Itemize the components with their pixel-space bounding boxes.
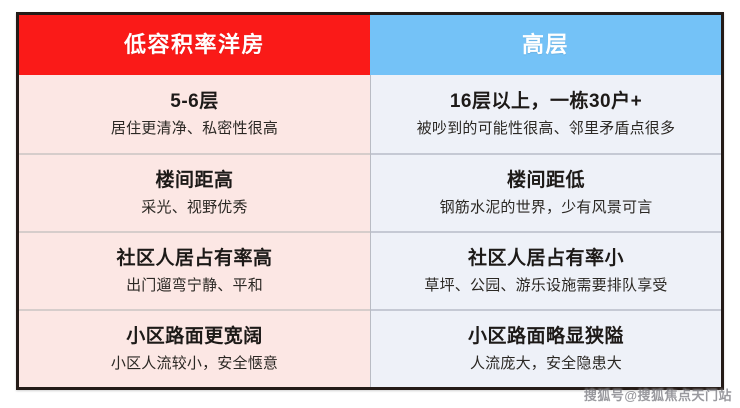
cell-subtitle: 出门遛弯宁静、平和 [126,276,263,296]
cell-subtitle: 居住更清净、私密性很高 [111,119,278,139]
table-cell: 5-6层 居住更清净、私密性很高 [19,75,370,153]
table-cell: 社区人居占有率高 出门遛弯宁静、平和 [19,231,370,309]
column-low-density-villa: 5-6层 居住更清净、私密性很高 楼间距高 采光、视野优秀 社区人居占有率高 出… [19,75,370,387]
cell-subtitle: 被吵到的可能性很高、邻里矛盾点很多 [417,119,675,139]
comparison-table: 低容积率洋房 高层 5-6层 居住更清净、私密性很高 楼间距高 采光、视野优秀 … [16,12,724,390]
table-cell: 楼间距低 钢筋水泥的世界，少有风景可言 [371,153,721,231]
cell-subtitle: 采光、视野优秀 [141,198,247,218]
cell-title: 小区路面更宽阔 [126,325,263,349]
cell-subtitle: 小区人流较小，安全惬意 [111,354,278,374]
header-title-right: 高层 [522,34,569,56]
table-cell: 小区路面更宽阔 小区人流较小，安全惬意 [19,309,370,387]
table-cell: 社区人居占有率小 草坪、公园、游乐设施需要排队享受 [371,231,721,309]
table-header-row: 低容积率洋房 高层 [19,15,721,75]
cell-title: 5-6层 [170,90,218,114]
cell-title: 小区路面略显狭隘 [468,325,624,349]
cell-title: 社区人居占有率高 [116,247,272,271]
table-cell: 楼间距高 采光、视野优秀 [19,153,370,231]
cell-subtitle: 钢筋水泥的世界，少有风景可言 [440,198,653,218]
table-body: 5-6层 居住更清净、私密性很高 楼间距高 采光、视野优秀 社区人居占有率高 出… [19,75,721,387]
header-cell-high-rise: 高层 [370,15,721,75]
cell-title: 社区人居占有率小 [468,247,624,271]
cell-title: 16层以上，一栋30户+ [450,90,642,114]
cell-subtitle: 人流庞大，安全隐患大 [470,354,622,374]
table-cell: 16层以上，一栋30户+ 被吵到的可能性很高、邻里矛盾点很多 [371,75,721,153]
header-cell-low-density-villa: 低容积率洋房 [19,15,370,75]
header-title-left: 低容积率洋房 [124,34,265,56]
column-high-rise: 16层以上，一栋30户+ 被吵到的可能性很高、邻里矛盾点很多 楼间距低 钢筋水泥… [370,75,721,387]
screenshot-canvas: 低容积率洋房 高层 5-6层 居住更清净、私密性很高 楼间距高 采光、视野优秀 … [0,0,740,408]
cell-title: 楼间距低 [507,169,585,193]
cell-title: 楼间距高 [155,169,233,193]
table-cell: 小区路面略显狭隘 人流庞大，安全隐患大 [371,309,721,387]
cell-subtitle: 草坪、公园、游乐设施需要排队享受 [424,276,667,296]
